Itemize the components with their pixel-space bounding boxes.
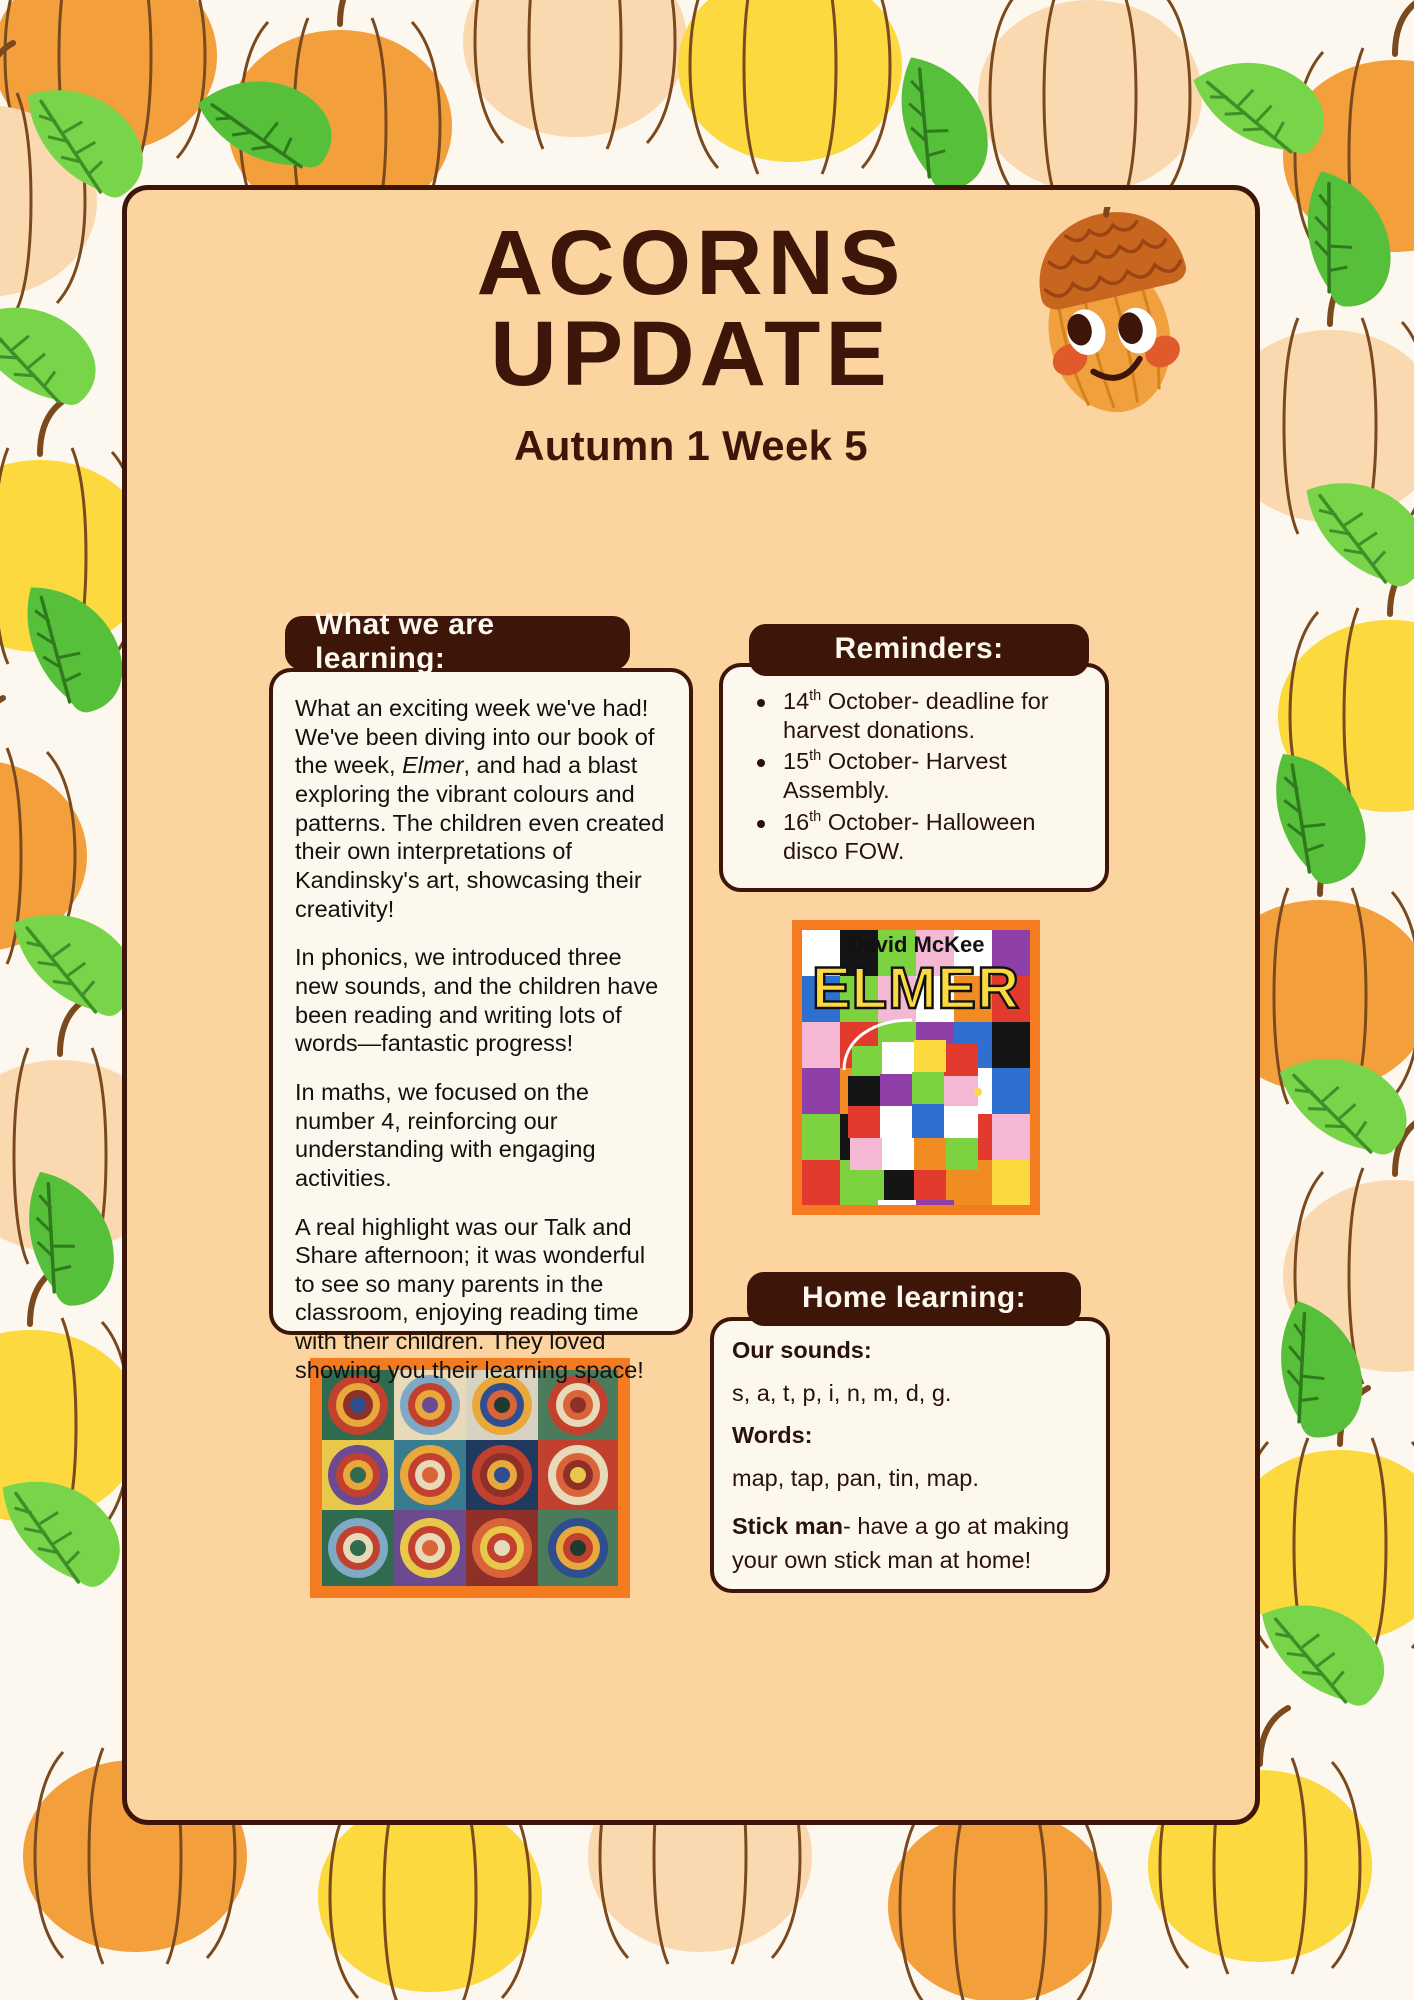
kandinsky-circles-artwork bbox=[310, 1358, 630, 1598]
book-title-text: ELMER bbox=[812, 956, 1020, 1021]
learning-paragraph-1: What an exciting week we've had! We've b… bbox=[295, 694, 667, 923]
home-learning-body: Our sounds: s, a, t, p, i, n, m, d, g. W… bbox=[732, 1339, 1088, 1577]
home-task-row: Stick man- have a go at making your own … bbox=[732, 1509, 1088, 1577]
poster-page: ACORNS UPDATE Autumn 1 Week 5 bbox=[0, 0, 1414, 2000]
home-sounds-value-row: s, a, t, p, i, n, m, d, g. bbox=[732, 1382, 1088, 1406]
section-heading-learning: What we are learning: bbox=[285, 616, 630, 670]
home-learning-panel: Our sounds: s, a, t, p, i, n, m, d, g. W… bbox=[710, 1317, 1110, 1593]
reminder-2-ordinal: th bbox=[809, 748, 821, 764]
home-words-label: Words: bbox=[732, 1422, 813, 1448]
reminders-panel: 14th October- deadline for harvest donat… bbox=[719, 663, 1109, 892]
home-sounds-label: Our sounds: bbox=[732, 1337, 872, 1363]
reminder-1-text: October- deadline for harvest donations. bbox=[783, 688, 1049, 743]
reminder-3-ordinal: th bbox=[809, 809, 821, 825]
home-task-label: Stick man bbox=[732, 1513, 843, 1539]
home-words-value-row: map, tap, pan, tin, map. bbox=[732, 1467, 1088, 1491]
learning-paragraph-3: In maths, we focused on the number 4, re… bbox=[295, 1078, 667, 1193]
home-sounds-label-row: Our sounds: bbox=[732, 1339, 1088, 1363]
page-subtitle: Autumn 1 Week 5 bbox=[127, 422, 1255, 470]
elmer-book-cover: David McKee ELMER bbox=[792, 920, 1040, 1215]
learning-paragraph-4: A real highlight was our Talk and Share … bbox=[295, 1213, 667, 1385]
acorn-icon bbox=[1018, 207, 1203, 422]
learning-paragraph-2: In phonics, we introduced three new soun… bbox=[295, 943, 667, 1058]
section-heading-home-learning: Home learning: bbox=[747, 1272, 1081, 1326]
book-title-elmer: Elmer bbox=[402, 752, 463, 778]
reminder-1-ordinal: th bbox=[809, 688, 821, 704]
list-item: 14th October- deadline for harvest donat… bbox=[733, 687, 1087, 745]
learning-body: What an exciting week we've had! We've b… bbox=[295, 694, 667, 1384]
home-words-label-row: Words: bbox=[732, 1424, 1088, 1448]
book-author-text: David McKee bbox=[848, 932, 985, 957]
learning-panel: What an exciting week we've had! We've b… bbox=[269, 668, 693, 1335]
poster-card: ACORNS UPDATE Autumn 1 Week 5 bbox=[122, 185, 1260, 1825]
list-item: 16th October- Halloween disco FOW. bbox=[733, 808, 1087, 866]
section-heading-reminders: Reminders: bbox=[749, 624, 1089, 676]
reminder-1-day: 14 bbox=[783, 688, 809, 714]
reminder-2-day: 15 bbox=[783, 748, 809, 774]
reminders-list: 14th October- deadline for harvest donat… bbox=[733, 687, 1087, 866]
list-item: 15th October- Harvest Assembly. bbox=[733, 747, 1087, 805]
reminder-3-text: October- Halloween disco FOW. bbox=[783, 809, 1036, 864]
reminder-3-day: 16 bbox=[783, 809, 809, 835]
